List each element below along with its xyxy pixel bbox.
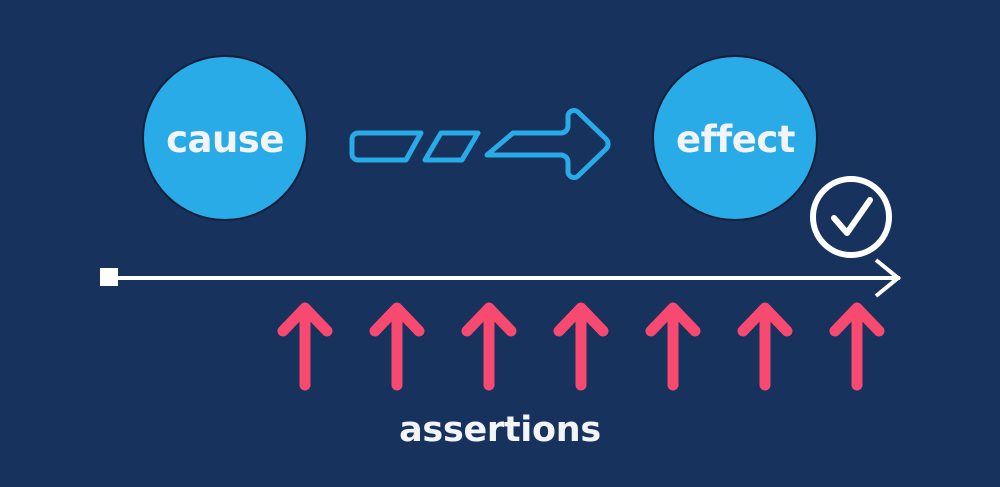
check-circle-outline-icon[interactable] <box>813 179 889 255</box>
speed-dash-1-icon <box>352 133 421 160</box>
assertion-arrow[interactable] <box>651 308 695 385</box>
cause-node-circle[interactable] <box>143 56 307 220</box>
speed-dash-2-icon <box>425 133 478 160</box>
assertion-arrow[interactable] <box>835 308 879 385</box>
assertion-arrow[interactable] <box>743 308 787 385</box>
diagram-canvas: cause effect assertions <box>0 0 1000 487</box>
assertion-arrow[interactable] <box>467 308 511 385</box>
flow-arrow-icon <box>487 110 608 177</box>
assertion-arrows-group <box>283 308 879 385</box>
assertions-caption: assertions <box>0 410 1000 450</box>
effect-node-circle[interactable] <box>653 56 817 220</box>
assertion-arrow[interactable] <box>375 308 419 385</box>
assertion-arrow[interactable] <box>283 308 327 385</box>
assertion-arrow[interactable] <box>559 308 603 385</box>
